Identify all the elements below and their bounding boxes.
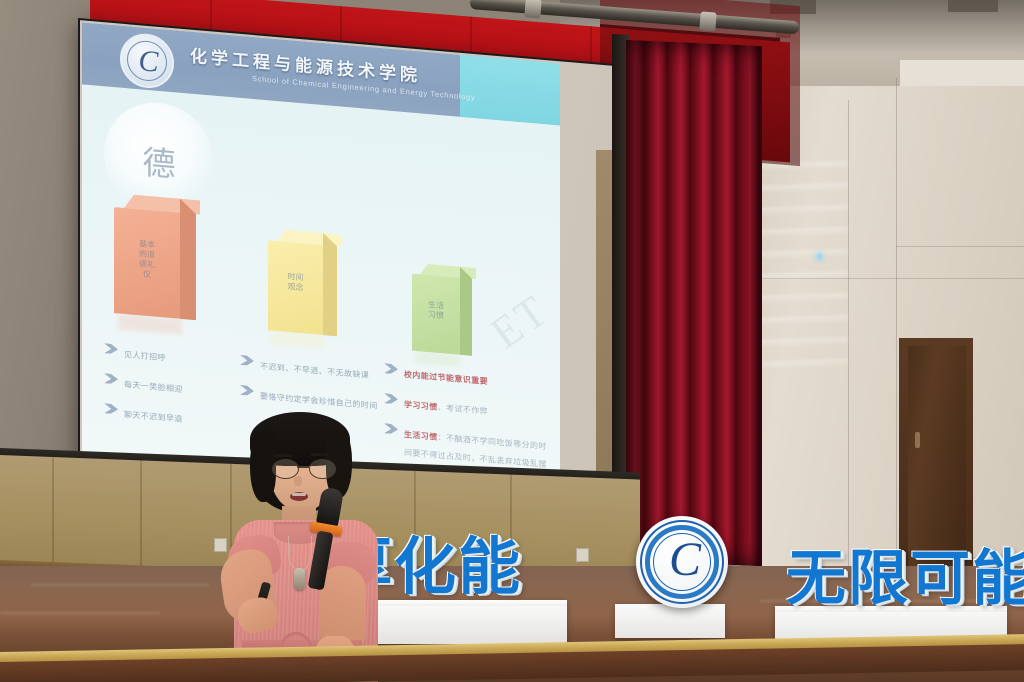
pendant [294, 568, 305, 590]
bullet-item: 每天一笑脸相迎 [104, 372, 234, 401]
slide-watermark: ET [481, 284, 559, 360]
slide-accent-block [460, 55, 560, 126]
slide-box-yellow: 时间 观念 [268, 228, 342, 336]
slide-box-red: 基本 的道 德礼 仪 [114, 193, 200, 320]
emblem-monogram: C [636, 536, 728, 584]
logo-monogram: C [122, 43, 172, 81]
wall-sheen [752, 150, 848, 380]
eyebrow-left [274, 454, 292, 457]
bullet-text: 不迟到、不早退、不无故缺课 [260, 362, 369, 380]
bullet-item: 聊天不迟到早退 [104, 402, 234, 431]
pedestal-emblem [615, 604, 725, 638]
bullet-text: 聊天不迟到早退 [124, 410, 183, 424]
school-emblem-sign: C [636, 516, 728, 608]
bullet-text: 学习习惯 [404, 400, 438, 412]
glasses-icon [272, 459, 334, 477]
mouth [290, 492, 308, 501]
bullet-text: 见人打招呼 [124, 350, 166, 363]
presenter [216, 410, 396, 682]
chevron-right-icon [384, 393, 398, 404]
glasses-bridge [297, 466, 309, 468]
wall-outlet-plate[interactable] [576, 548, 589, 562]
school-logo-icon: C [120, 32, 174, 91]
wall-seam-2 [896, 78, 897, 608]
slide-box-green: 生活 习惯 [412, 263, 478, 357]
stage-sign-right: 无限可能 [786, 530, 1024, 617]
bullet-item: 学习习惯、考试不作弊 [384, 392, 550, 424]
floor-reflection-streak [30, 584, 210, 586]
necklace [288, 536, 312, 571]
lens-right [309, 459, 336, 479]
pipe-collar-1 [524, 0, 541, 19]
chevron-right-icon [240, 385, 254, 396]
chevron-right-icon [104, 373, 118, 384]
bullet-text: 生活习惯 [404, 430, 438, 442]
stage-curtain [626, 40, 762, 566]
indicator-led [817, 254, 822, 259]
bullet-text: 要恪守约定学会珍惜自己的时间 [260, 392, 378, 411]
door-handle[interactable] [915, 432, 920, 448]
chevron-right-icon [104, 343, 118, 354]
auditorium-scene: C 化学工程与能源技术学院 School of Chemical Enginee… [0, 0, 1024, 682]
slide-box-green-reflection [415, 351, 461, 367]
wall-seam-h-2 [896, 246, 1024, 247]
bullet-item: 不迟到、不早退、不无故缺课 [240, 354, 380, 384]
chevron-right-icon [104, 403, 118, 414]
bullet-text: 校内能过节能意识重要 [404, 370, 488, 386]
ceiling-vent-2 [948, 0, 998, 12]
chevron-right-icon [240, 355, 254, 366]
bullet-item: 校内能过节能意识重要 [384, 362, 550, 394]
virtue-character: 德 [104, 132, 214, 189]
eyebrow-right [310, 453, 328, 456]
bullet-text-rest: 、考试不作弊 [438, 403, 488, 416]
bullet-item: 见人打招呼 [104, 342, 234, 371]
slide-bullets-left: 见人打招呼 每天一笑脸相迎 聊天不迟到早退 [104, 342, 234, 443]
floor-reflection-streak [0, 612, 160, 614]
bullet-text: 每天一笑脸相迎 [124, 380, 183, 394]
pipe-collar-2 [699, 11, 716, 31]
chevron-right-icon [384, 363, 398, 374]
nose [294, 476, 302, 486]
slide-box-red-label: 基本 的道 德礼 仪 [114, 237, 180, 283]
slide-box-green-label: 生活 习惯 [412, 299, 460, 323]
